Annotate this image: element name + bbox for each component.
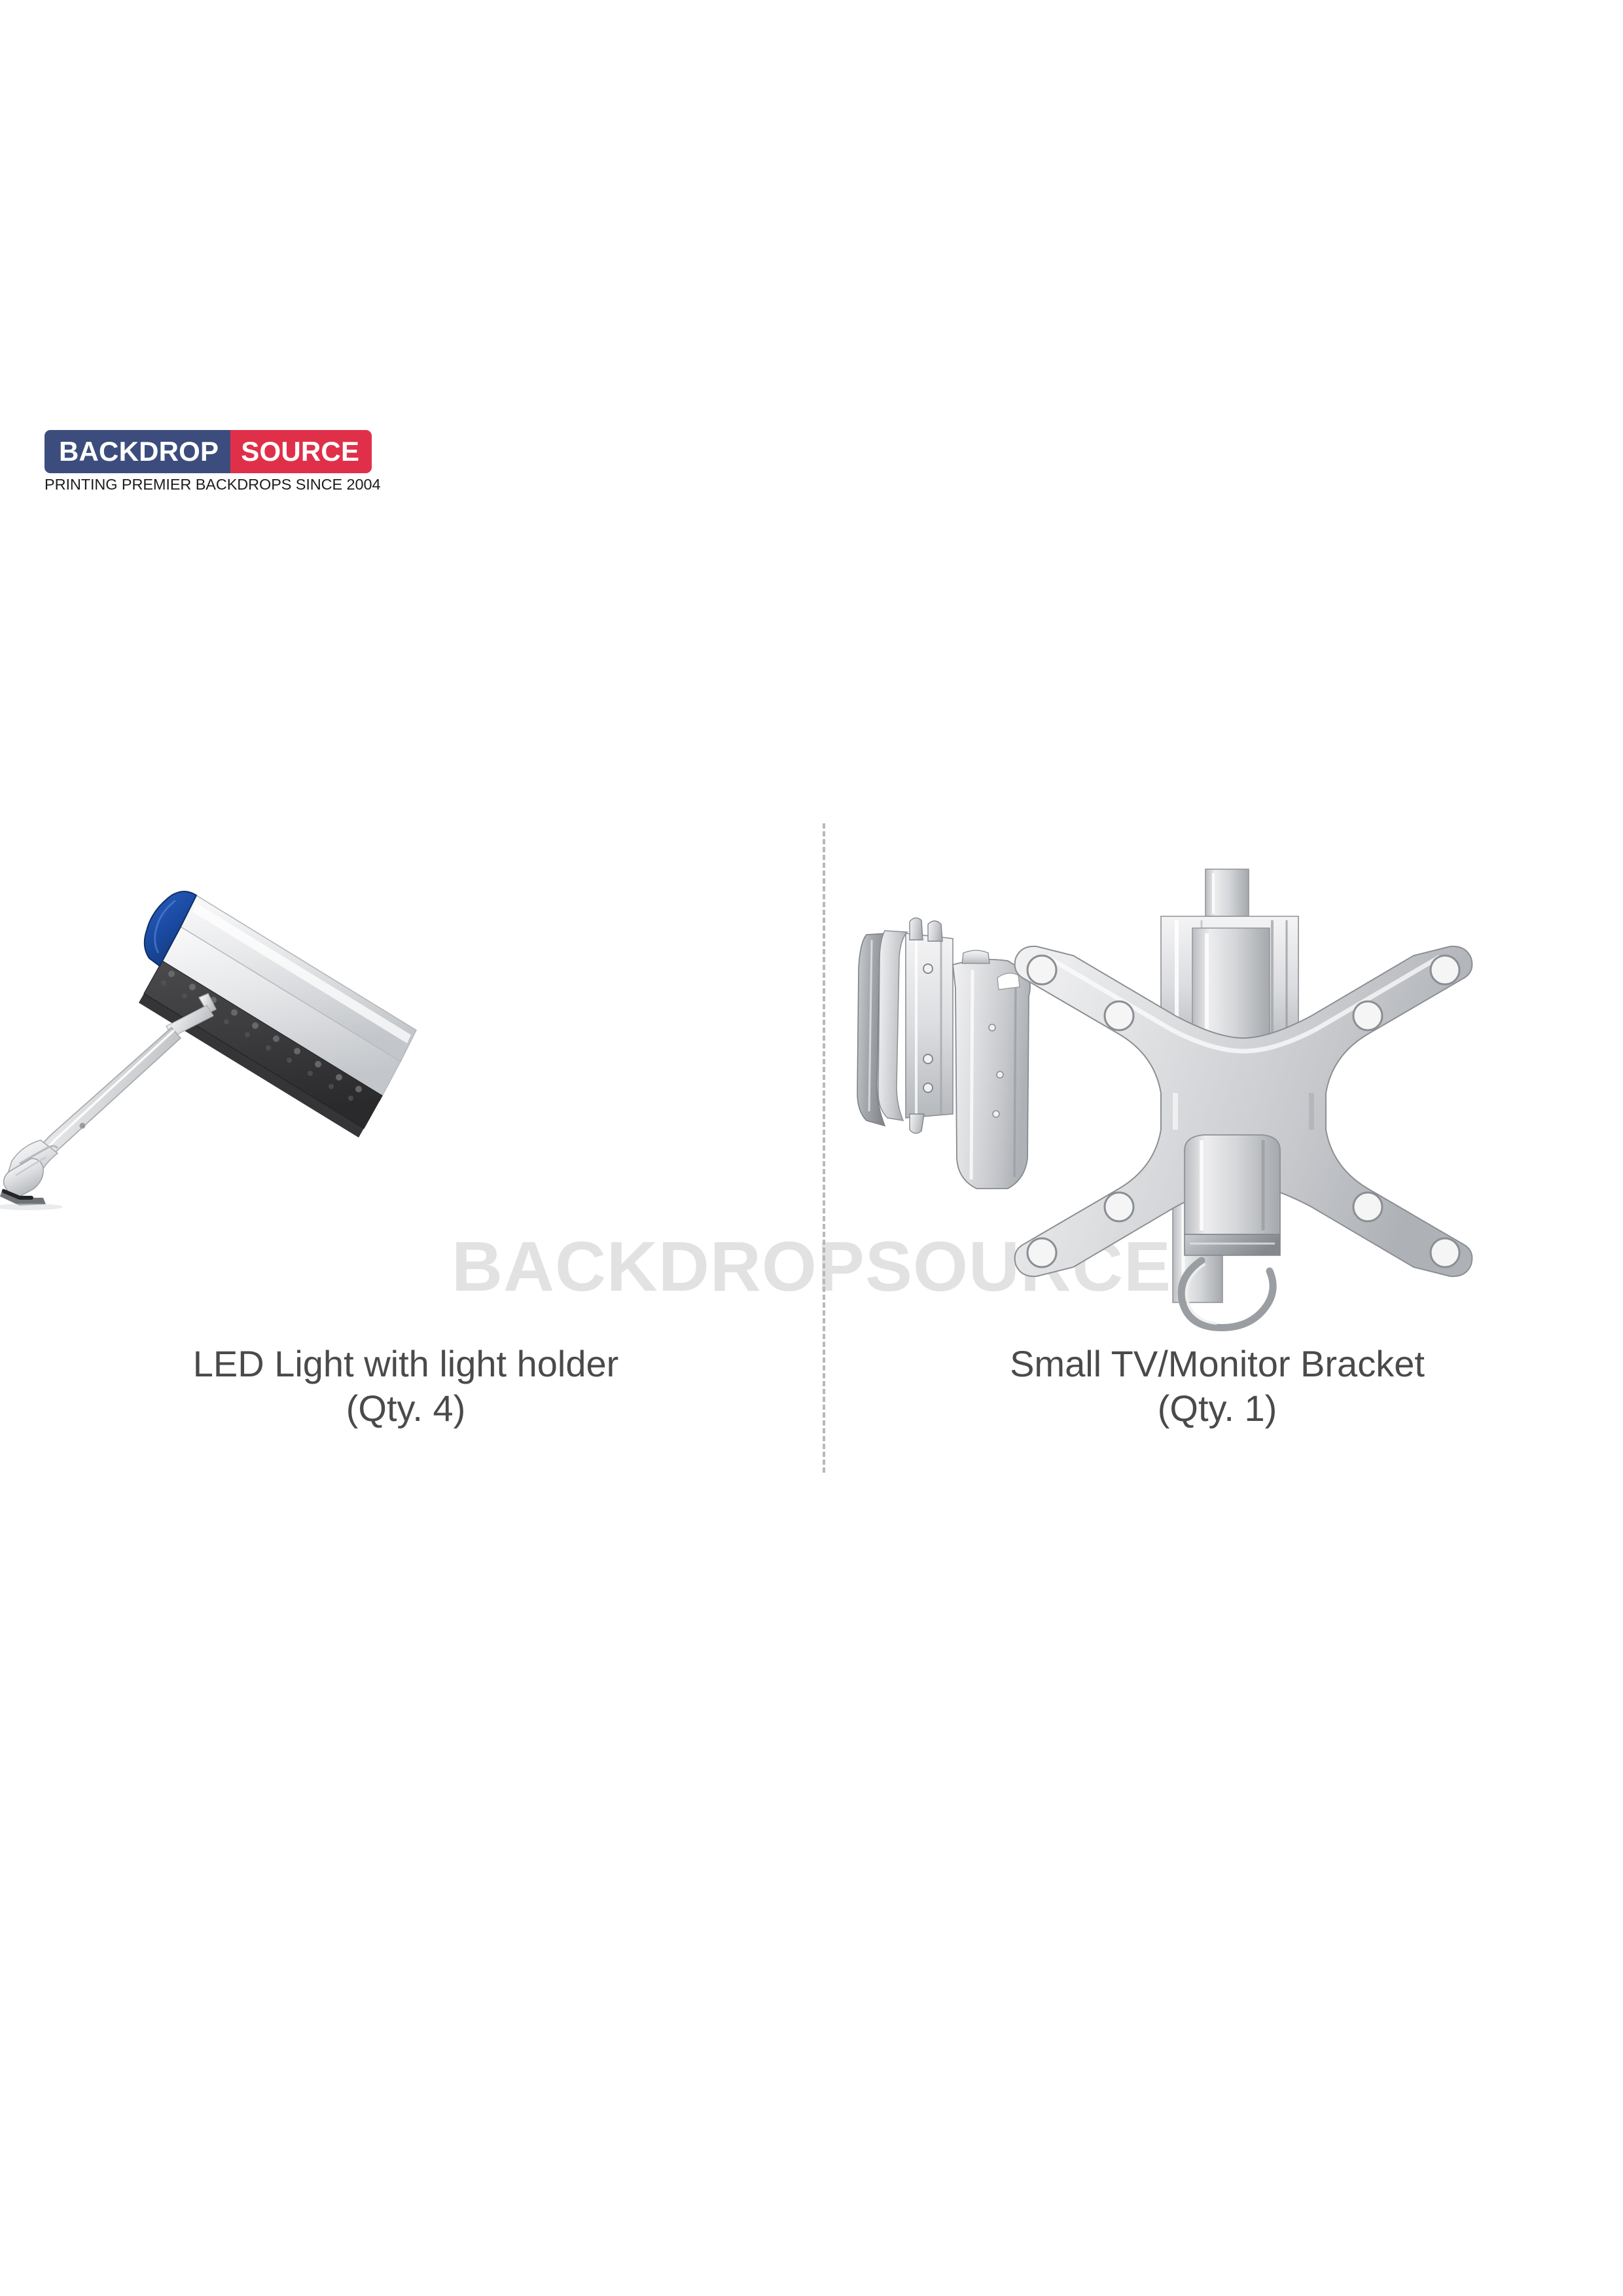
tv-bracket-caption: Small TV/Monitor Bracket (Qty. 1) — [811, 1342, 1623, 1431]
part-item-tv-bracket: Small TV/Monitor Bracket (Qty. 1) — [811, 818, 1623, 1492]
led-base-clamp-group — [0, 1140, 63, 1210]
led-light-caption: LED Light with light holder (Qty. 4) — [0, 1342, 811, 1431]
logo-word-backdrop: BACKDROP — [45, 430, 230, 473]
bracket-vesa-assembly-group — [1015, 869, 1472, 1327]
led-arm-group — [26, 994, 216, 1175]
led-light-illustration — [0, 818, 811, 1335]
brand-logo: BACKDROP SOURCE PRINTING PREMIER BACKDRO… — [45, 430, 385, 493]
part-item-led-light: LED Light with light holder (Qty. 4) — [0, 818, 811, 1492]
logo-wordmark: BACKDROP SOURCE — [45, 430, 372, 473]
logo-word-source: SOURCE — [230, 430, 372, 473]
bracket-tilt-assembly-group — [857, 918, 1030, 1189]
parts-area: LED Light with light holder (Qty. 4) — [0, 818, 1623, 1492]
led-head-group — [139, 891, 416, 1138]
tv-bracket-illustration — [811, 818, 1623, 1335]
logo-tagline: PRINTING PREMIER BACKDROPS SINCE 2004 — [45, 476, 385, 493]
